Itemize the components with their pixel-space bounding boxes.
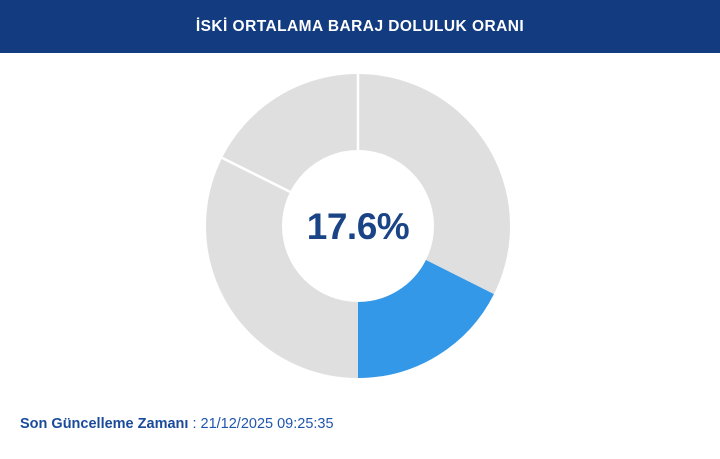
footer-area: Son Güncelleme Zamanı : 21/12/2025 09:25…	[0, 400, 720, 459]
last-update-line: Son Güncelleme Zamanı : 21/12/2025 09:25…	[20, 416, 334, 432]
page-title: İSKİ ORTALAMA BARAJ DOLULUK ORANI	[196, 18, 524, 36]
last-update-value: 21/12/2025 09:25:35	[201, 416, 334, 432]
donut-chart-svg	[206, 74, 510, 378]
last-update-separator: :	[188, 416, 200, 432]
last-update-label: Son Güncelleme Zamanı	[20, 416, 188, 432]
chart-area: 17.6%	[0, 53, 720, 400]
header-bar: İSKİ ORTALAMA BARAJ DOLULUK ORANI	[0, 0, 720, 53]
donut-chart: 17.6%	[206, 74, 510, 378]
